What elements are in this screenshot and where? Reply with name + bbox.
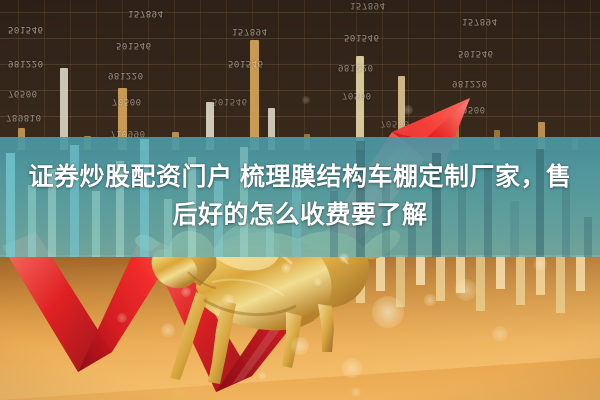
gridline-horizontal xyxy=(0,64,600,65)
chart-bar xyxy=(584,217,592,257)
chart-bar xyxy=(70,145,79,257)
price-ticker-label: 981220 xyxy=(338,62,374,72)
teal-overlay-band xyxy=(0,137,600,257)
gridline-vertical xyxy=(96,0,97,150)
gridline-vertical xyxy=(304,0,305,150)
chart-bar xyxy=(408,213,416,257)
chart-bar xyxy=(432,153,441,257)
gridline-vertical xyxy=(70,0,71,150)
chart-bar xyxy=(510,201,519,257)
chart-bar xyxy=(48,169,56,257)
price-ticker-label: 501546 xyxy=(344,32,380,42)
chart-bar xyxy=(562,183,570,257)
gridline-horizontal xyxy=(0,12,600,13)
chart-bar xyxy=(330,191,338,257)
chart-bar xyxy=(382,177,390,257)
chart-bar xyxy=(116,161,124,257)
gridline-vertical xyxy=(512,0,513,150)
chart-bar xyxy=(240,147,248,257)
chart-bar xyxy=(484,163,492,257)
gridline-vertical xyxy=(44,0,45,150)
chart-bar xyxy=(188,157,196,257)
chart-bar xyxy=(250,40,259,150)
price-ticker-label: 981220 xyxy=(452,78,488,88)
gridline-vertical xyxy=(460,0,461,150)
chart-bar xyxy=(6,153,15,257)
gridline-vertical xyxy=(148,0,149,150)
chart-bar xyxy=(292,165,301,257)
price-ticker-label: 70500 xyxy=(112,96,142,106)
price-ticker-label: 981220 xyxy=(108,70,144,80)
chart-bar xyxy=(140,139,149,257)
chart-bar xyxy=(164,199,172,257)
price-ticker-label: 76500 xyxy=(8,88,38,98)
banner-image: 5015469812207650078981015789450154698122… xyxy=(0,0,600,400)
gridline-vertical xyxy=(278,0,279,150)
gridline-horizontal xyxy=(0,38,600,39)
price-ticker-label: 501546 xyxy=(116,40,152,50)
gridline-horizontal xyxy=(0,90,600,91)
gridline-vertical xyxy=(590,0,591,150)
price-ticker-label: 157894 xyxy=(350,0,386,10)
price-ticker-label: 501546 xyxy=(458,48,494,58)
price-ticker-label: 157894 xyxy=(232,26,268,36)
chart-bar xyxy=(356,141,365,257)
price-ticker-label: 157894 xyxy=(128,8,164,18)
gridline-vertical xyxy=(200,0,201,150)
price-ticker-label: 70500 xyxy=(456,104,486,114)
reflective-floor xyxy=(0,255,600,400)
chart-bar xyxy=(28,185,36,257)
chart-wall-top: 5015469812207650078981015789450154698122… xyxy=(0,0,600,150)
gridline-vertical xyxy=(434,0,435,150)
price-ticker-label: 70500 xyxy=(380,118,410,128)
price-ticker-label: 70500 xyxy=(342,90,372,100)
price-ticker-label: 789810 xyxy=(6,112,42,122)
chart-bar xyxy=(536,149,544,257)
chart-bar xyxy=(266,205,274,257)
price-ticker-label: 501546 xyxy=(228,58,264,68)
chart-bar xyxy=(92,191,100,257)
floor-sheen xyxy=(0,255,600,400)
price-ticker-label: 501546 xyxy=(212,96,248,106)
price-ticker-label: 501546 xyxy=(8,24,44,34)
gridline-horizontal xyxy=(0,116,600,117)
price-ticker-label: 981220 xyxy=(8,58,44,68)
price-ticker-label: 157894 xyxy=(462,16,498,26)
chart-bar xyxy=(458,187,466,257)
chart-bar xyxy=(214,181,223,257)
gridline-vertical xyxy=(174,0,175,150)
gridline-vertical xyxy=(226,0,227,150)
gridline-vertical xyxy=(330,0,331,150)
gridline-vertical xyxy=(564,0,565,150)
